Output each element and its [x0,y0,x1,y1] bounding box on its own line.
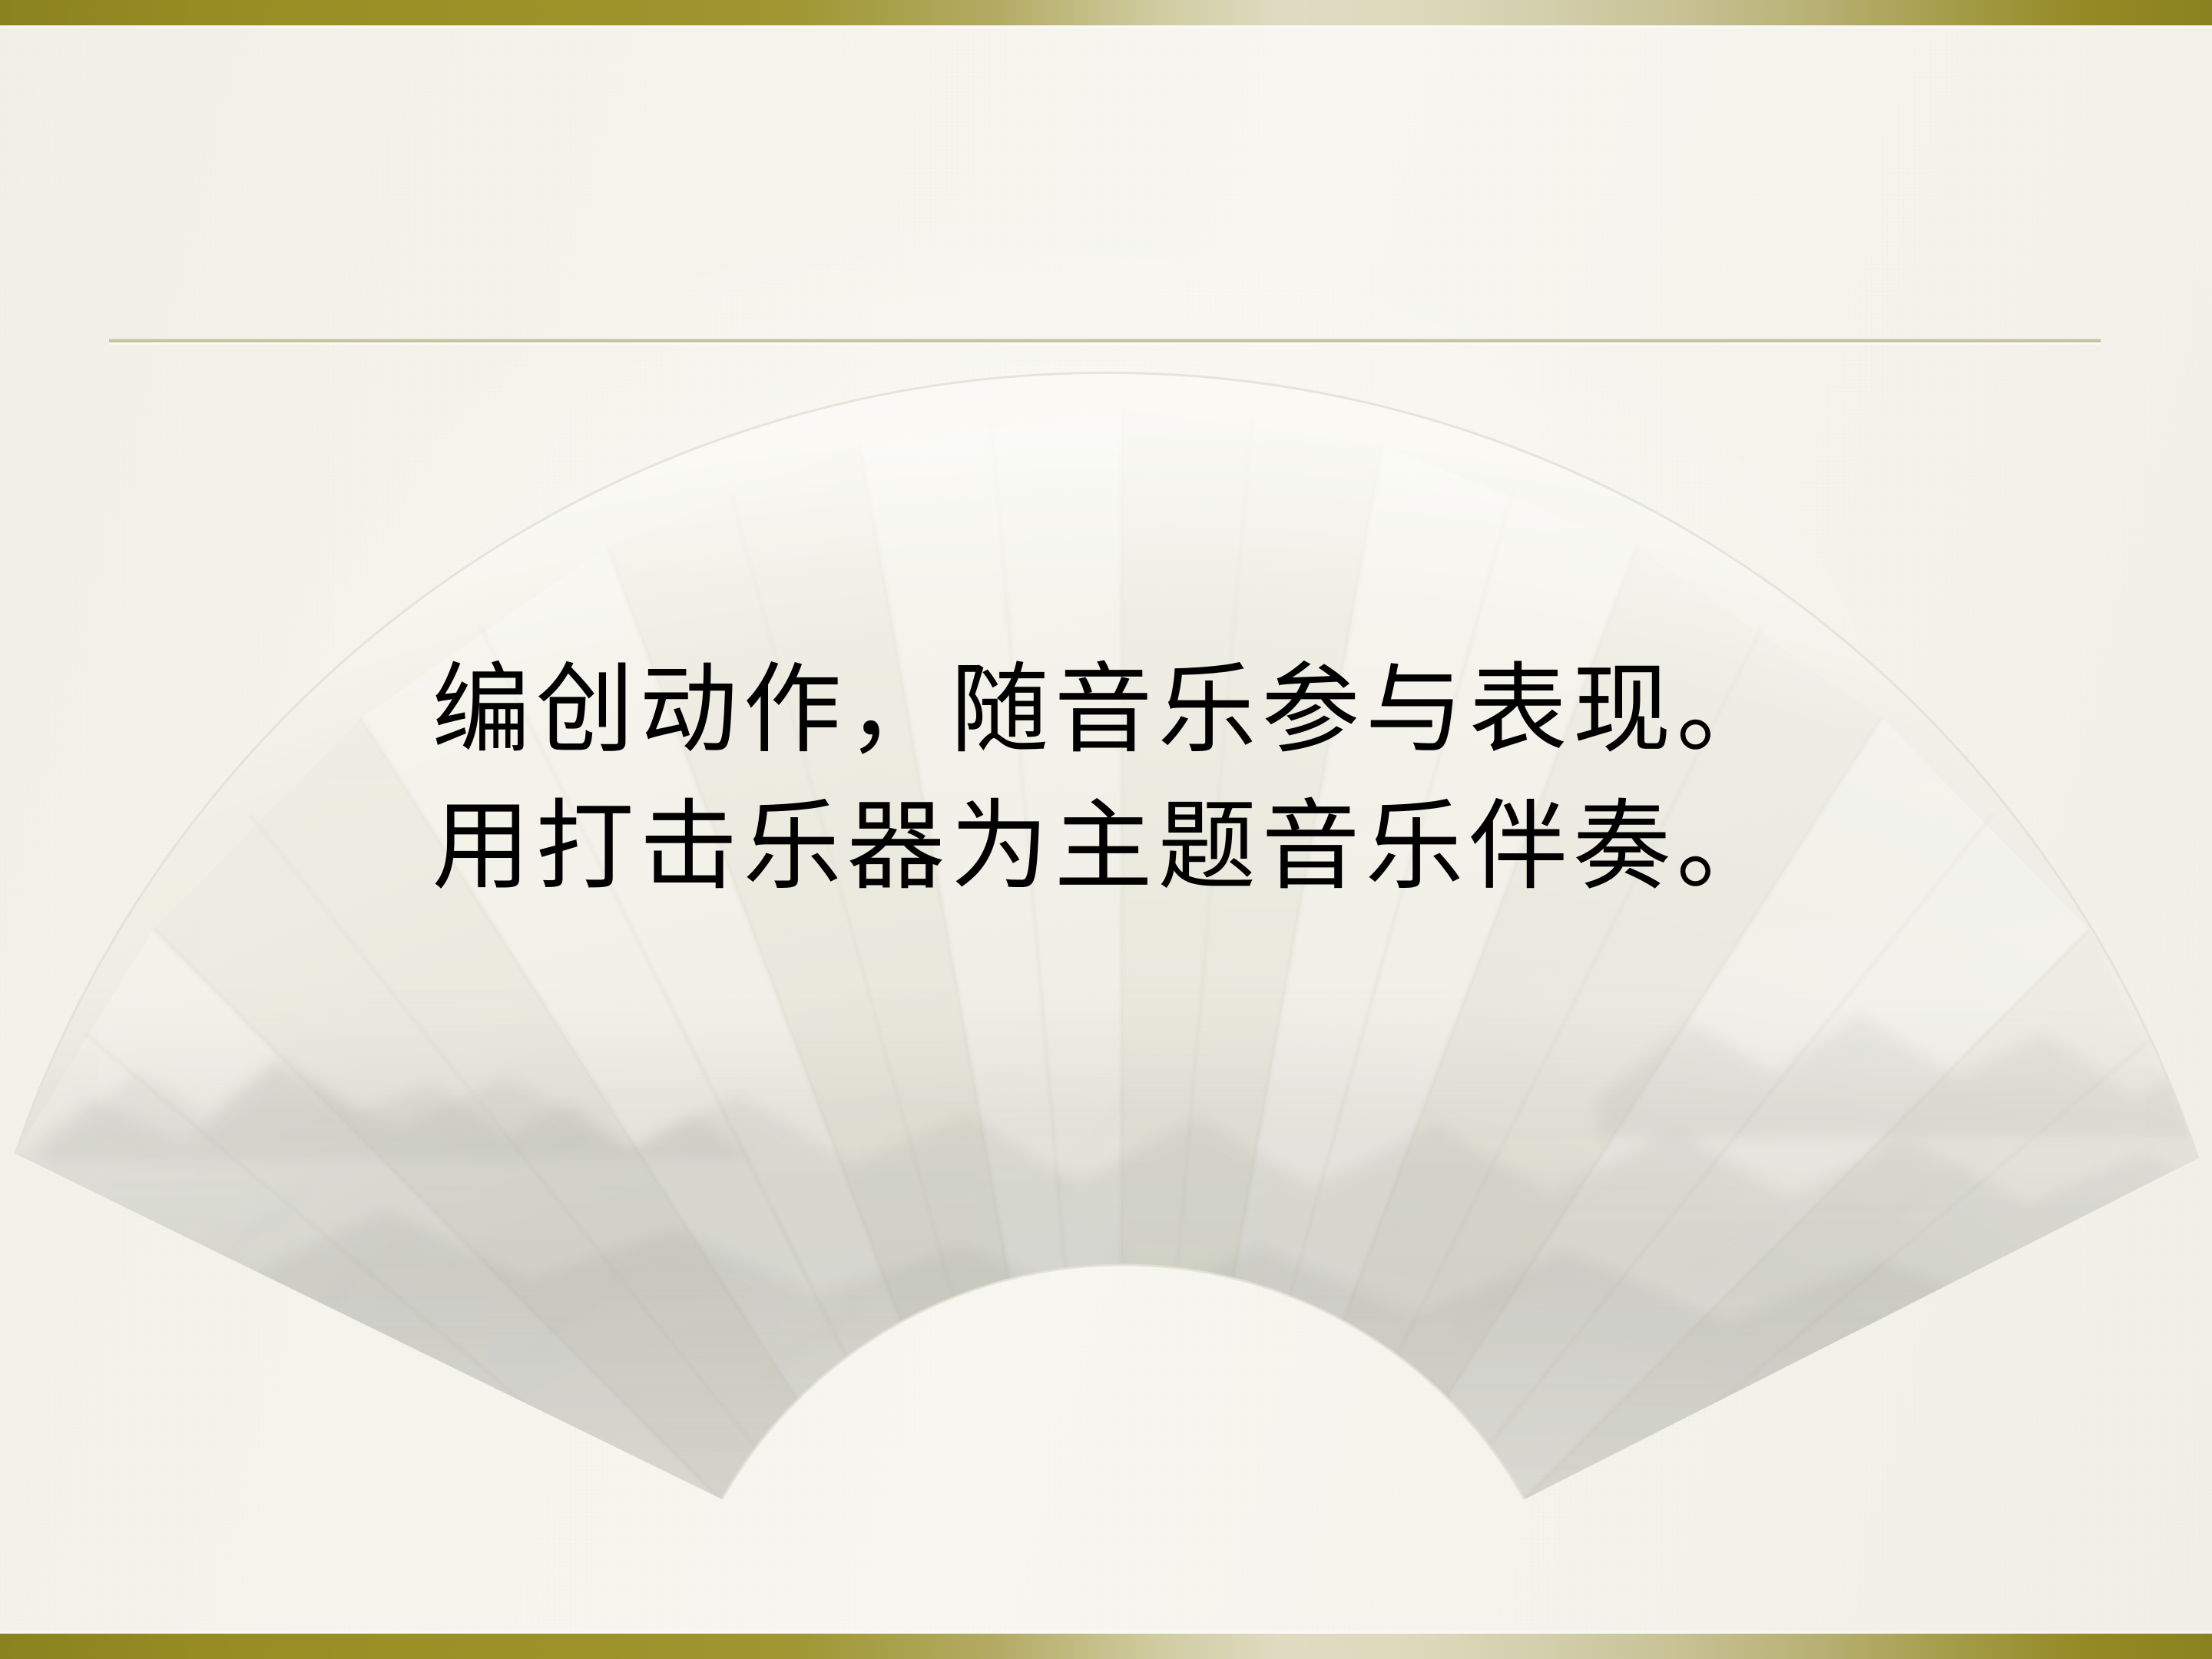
top-gold-band-sheen [0,25,2212,30]
slide-body-text: 编创动作，随音乐参与表现。 用打击乐器为主题音乐伴奏。 [0,642,2212,916]
bottom-gold-band [0,1634,2212,1659]
title-divider-highlight [109,343,2101,346]
body-line-2: 用打击乐器为主题音乐伴奏。 [0,779,2212,916]
top-gold-band [0,0,2212,25]
body-line-1: 编创动作，随音乐参与表现。 [0,642,2212,779]
slide-canvas: 编创动作，随音乐参与表现。 用打击乐器为主题音乐伴奏。 [0,0,2212,1659]
